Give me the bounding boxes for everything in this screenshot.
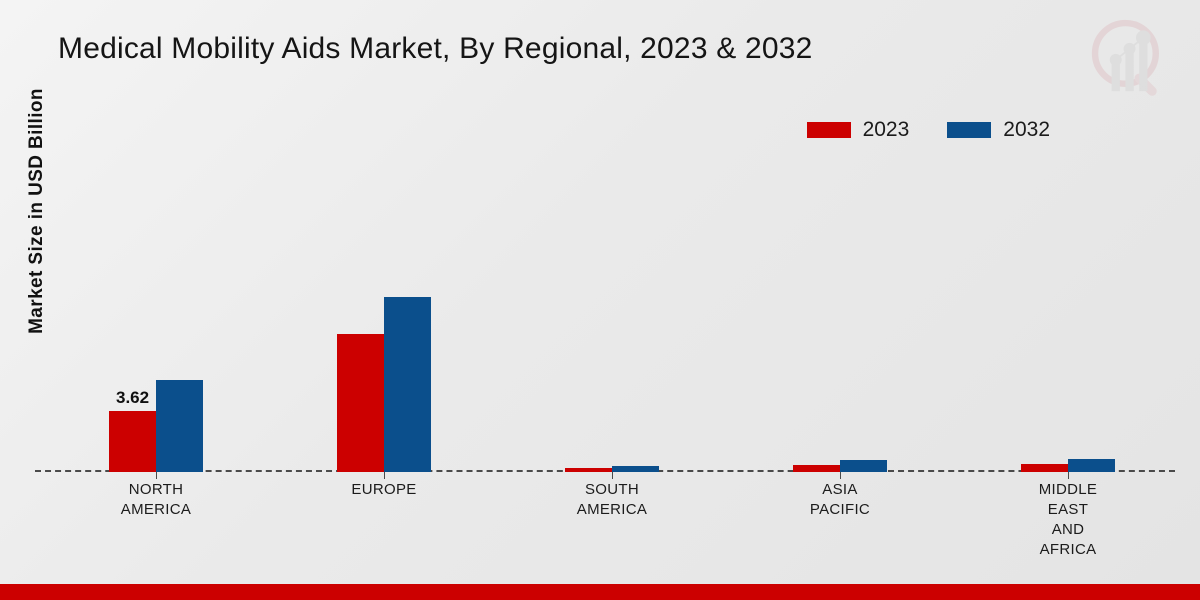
- bar-pair: [1021, 170, 1115, 472]
- x-axis-label-asia-pacific: ASIA PACIFIC: [755, 480, 925, 520]
- bar-pair: [565, 170, 659, 472]
- legend-item-2023[interactable]: 2023: [807, 118, 910, 142]
- bar-north-america-2023[interactable]: [109, 411, 156, 472]
- x-axis-label-line: SOUTH: [527, 480, 697, 500]
- chart-page: Medical Mobility Aids Market, By Regiona…: [0, 0, 1200, 600]
- x-axis-label-line: AMERICA: [527, 500, 697, 520]
- company-logo-watermark: [1082, 12, 1178, 104]
- x-axis-tick: [156, 472, 157, 479]
- x-axis-tick: [840, 472, 841, 479]
- x-axis-label-line: AFRICA: [983, 540, 1153, 560]
- bar-pair: [109, 170, 203, 472]
- bar-middle-east-and-africa-2032[interactable]: [1068, 459, 1115, 472]
- bar-south-america-2032[interactable]: [612, 466, 659, 472]
- x-axis-label-south-america: SOUTH AMERICA: [527, 480, 697, 520]
- x-axis-label-line: PACIFIC: [755, 500, 925, 520]
- plot-area: 3.62 NORTH AMERICA EUROPE: [35, 170, 1175, 472]
- x-axis-label-line: AMERICA: [71, 500, 241, 520]
- legend-swatch-2023-icon: [807, 122, 851, 138]
- legend-label-2023: 2023: [863, 118, 910, 142]
- x-axis-tick: [384, 472, 385, 479]
- bar-value-north-america-2023: 3.62: [116, 388, 149, 408]
- bar-south-america-2023[interactable]: [565, 468, 612, 472]
- bar-asia-pacific-2023[interactable]: [793, 465, 840, 472]
- x-axis-label-north-america: NORTH AMERICA: [71, 480, 241, 520]
- bar-europe-2023[interactable]: [337, 334, 384, 472]
- chart-legend: 2023 2032: [807, 118, 1050, 142]
- legend-swatch-2032-icon: [947, 122, 991, 138]
- bar-asia-pacific-2032[interactable]: [840, 460, 887, 472]
- x-axis-label-europe: EUROPE: [299, 480, 469, 500]
- x-axis-tick: [612, 472, 613, 479]
- bar-pair: [337, 170, 431, 472]
- legend-label-2032: 2032: [1003, 118, 1050, 142]
- x-axis-label-line: EUROPE: [299, 480, 469, 500]
- x-axis-label-line: NORTH: [71, 480, 241, 500]
- x-axis-label-line: EAST: [983, 500, 1153, 520]
- x-axis-label-middle-east-and-africa: MIDDLE EAST AND AFRICA: [983, 480, 1153, 560]
- bottom-accent-band: [0, 584, 1200, 600]
- bar-europe-2032[interactable]: [384, 297, 431, 472]
- x-axis-label-line: ASIA: [755, 480, 925, 500]
- x-axis-tick: [1068, 472, 1069, 479]
- bar-middle-east-and-africa-2023[interactable]: [1021, 464, 1068, 472]
- x-axis-label-line: AND: [983, 520, 1153, 540]
- page-title: Medical Mobility Aids Market, By Regiona…: [58, 32, 813, 66]
- legend-item-2032[interactable]: 2032: [947, 118, 1050, 142]
- x-axis-label-line: MIDDLE: [983, 480, 1153, 500]
- bar-north-america-2032[interactable]: [156, 380, 203, 472]
- bar-pair: [793, 170, 887, 472]
